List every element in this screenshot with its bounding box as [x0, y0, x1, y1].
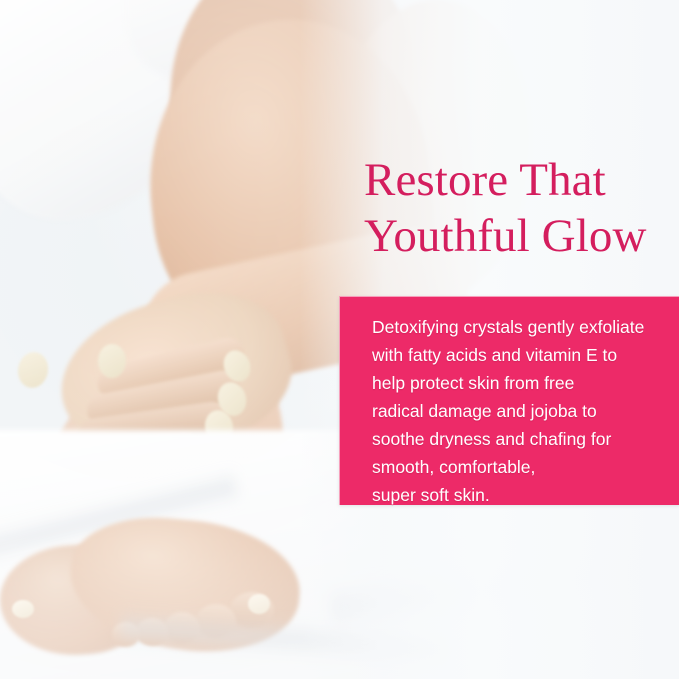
toenail — [248, 594, 270, 614]
product-marketing-image: Restore That Youthful Glow Detoxifying c… — [0, 0, 679, 679]
pink-copy-panel: Detoxifying crystals gently exfoliate wi… — [339, 296, 679, 505]
panel-body-copy: Detoxifying crystals gently exfoliate wi… — [372, 313, 669, 509]
toenail — [12, 600, 34, 618]
headline: Restore That Youthful Glow — [364, 152, 676, 264]
